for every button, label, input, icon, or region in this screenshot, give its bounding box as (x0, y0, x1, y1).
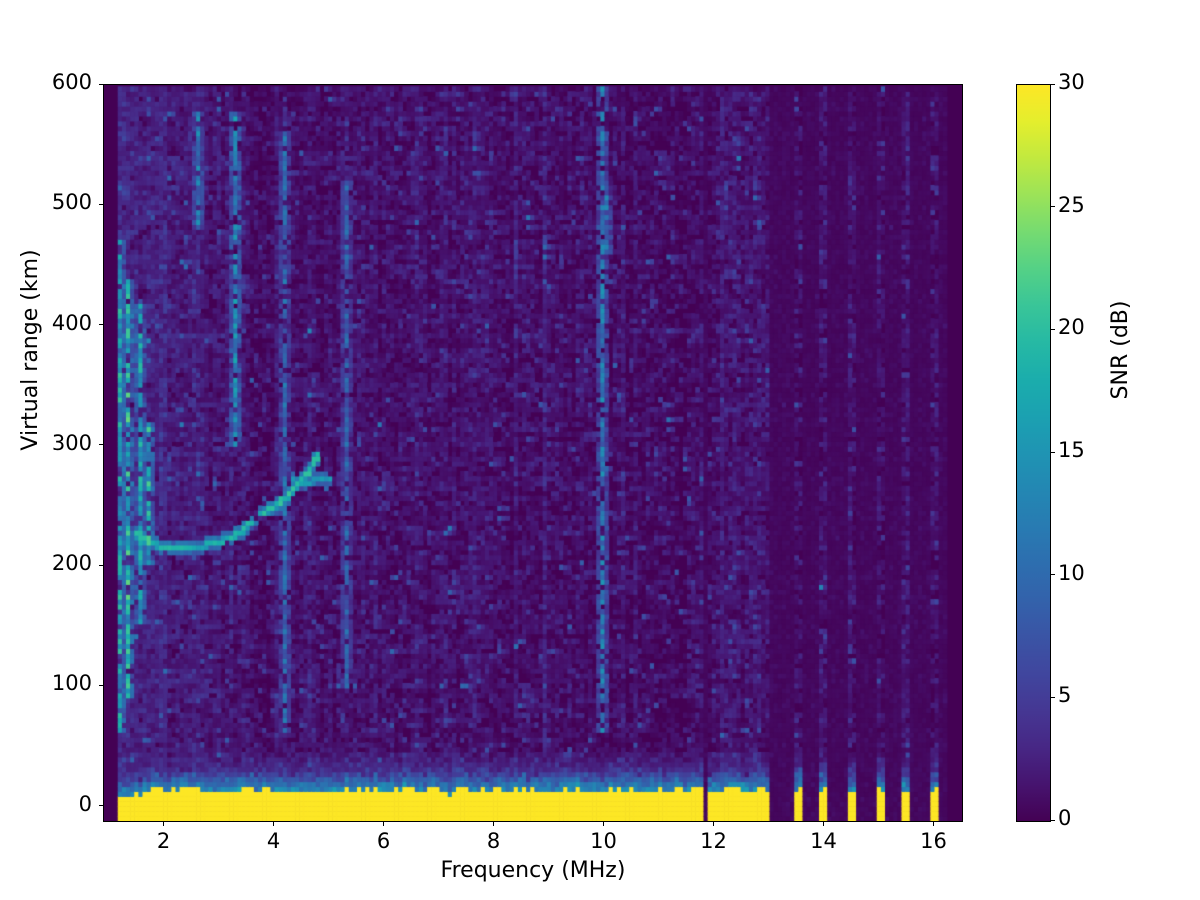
x-axis-tick-14 (823, 822, 824, 826)
x-axis-tick-8 (493, 822, 494, 826)
colorbar-tick-label-20: 20 (1058, 315, 1085, 339)
colorbar-gradient (1017, 85, 1050, 821)
x-axis-tick-label-10: 10 (574, 829, 634, 853)
colorbar-tick-25 (1051, 206, 1055, 207)
x-axis-tick-12 (713, 822, 714, 826)
x-axis-tick-label-12: 12 (684, 829, 744, 853)
y-axis-tick-label-200: 200 (0, 551, 92, 575)
colorbar-tick-5 (1051, 697, 1055, 698)
ionogram-heatmap (104, 85, 962, 821)
colorbar-tick-0 (1051, 820, 1055, 821)
x-axis-tick-4 (273, 822, 274, 826)
y-axis-tick-label-100: 100 (0, 671, 92, 695)
y-axis-tick-300 (99, 444, 103, 445)
x-axis-label: Frequency (MHz) (103, 858, 963, 883)
x-axis-tick-10 (603, 822, 604, 826)
x-axis-tick-label-14: 14 (794, 829, 854, 853)
ionogram-plot-area[interactable] (103, 84, 963, 822)
y-axis-tick-500 (99, 204, 103, 205)
ionogram-figure: IRF Uppsala SDR Ionosonde UP158 2025-12-… (0, 0, 1200, 900)
y-axis-tick-label-300: 300 (0, 431, 92, 455)
colorbar-tick-label-10: 10 (1058, 561, 1085, 585)
x-axis-tick-6 (383, 822, 384, 826)
x-axis-tick-label-16: 16 (904, 829, 964, 853)
x-axis-tick-2 (163, 822, 164, 826)
x-axis-tick-label-6: 6 (354, 829, 414, 853)
colorbar-tick-label-15: 15 (1058, 438, 1085, 462)
colorbar-tick-label-0: 0 (1058, 806, 1071, 830)
colorbar-tick-label-30: 30 (1058, 70, 1085, 94)
x-axis-tick-label-4: 4 (244, 829, 304, 853)
colorbar-tick-label-25: 25 (1058, 193, 1085, 217)
colorbar-tick-10 (1051, 574, 1055, 575)
y-axis-tick-200 (99, 565, 103, 566)
y-axis-label: Virtual range (km) (18, 100, 43, 600)
x-axis-tick-label-2: 2 (134, 829, 194, 853)
colorbar-tick-label-5: 5 (1058, 683, 1071, 707)
x-axis-tick-label-8: 8 (464, 829, 524, 853)
colorbar-label: SNR (dB) (1108, 90, 1133, 610)
y-axis-tick-label-500: 500 (0, 190, 92, 214)
y-axis-tick-600 (99, 84, 103, 85)
y-axis-tick-label-400: 400 (0, 311, 92, 335)
y-axis-tick-label-600: 600 (0, 70, 92, 94)
x-axis-tick-16 (933, 822, 934, 826)
y-axis-tick-label-0: 0 (0, 792, 92, 816)
colorbar-tick-30 (1051, 84, 1055, 85)
y-axis-tick-0 (99, 805, 103, 806)
y-axis-tick-100 (99, 685, 103, 686)
y-axis-tick-400 (99, 324, 103, 325)
colorbar-tick-15 (1051, 452, 1055, 453)
colorbar-tick-20 (1051, 329, 1055, 330)
colorbar[interactable] (1016, 84, 1051, 822)
